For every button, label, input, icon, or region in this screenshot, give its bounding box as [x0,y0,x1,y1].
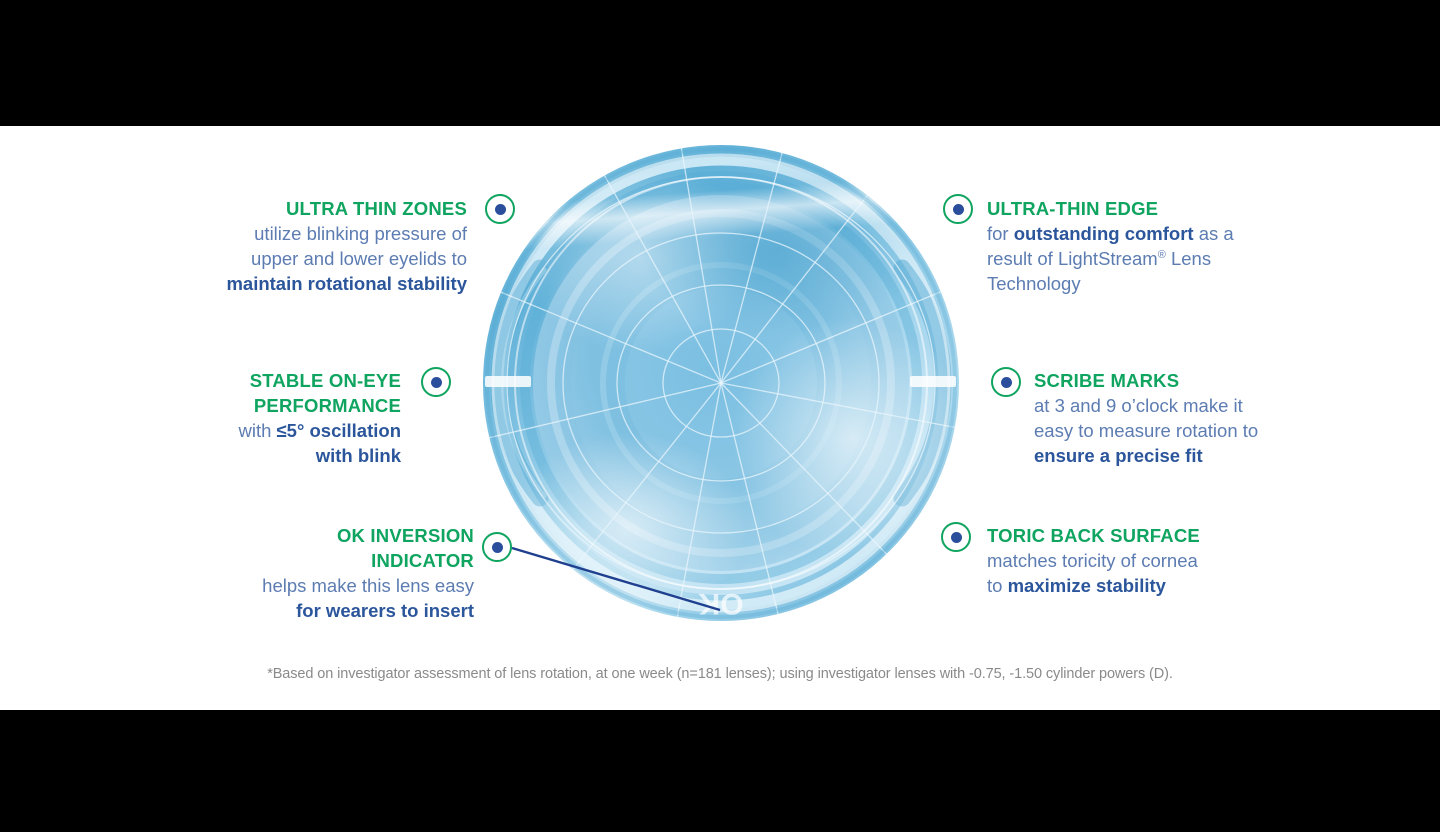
callout-line-1: utilize blinking pressure of [120,221,467,246]
callout-emphasis: for wearers to insert [296,600,474,621]
callout-ultra-thin-zones: ULTRA THIN ZONES utilize blinking pressu… [120,196,467,296]
contact-lens-illustration: OK [480,138,962,628]
bullet-ultra-thin-edge[interactable] [943,194,973,224]
callout-title: ULTRA THIN ZONES [120,196,467,221]
callout-scribe-marks: SCRIBE MARKS at 3 and 9 o’clock make it … [1034,368,1334,468]
scribe-mark-right [910,376,956,387]
registered-mark: ® [1158,249,1166,261]
callout-ultra-thin-edge: ULTRA-THIN EDGE for outstanding comfort … [987,196,1287,296]
footnote-text: *Based on investigator assessment of len… [0,666,1440,682]
bullet-scribe-marks[interactable] [991,367,1021,397]
callout-line-2: upper and lower eyelids to [120,246,467,271]
callout-line-1: matches toricity of cornea [987,548,1287,573]
ok-inversion-mark: OK [698,587,743,620]
bullet-toric-back-surface[interactable] [941,522,971,552]
callout-line-2: easy to measure rotation to [1034,418,1334,443]
callout-line-2a: result of LightStream [987,248,1158,269]
callout-title-line-1: STABLE ON-EYE [100,368,401,393]
callout-line-1: at 3 and 9 o’clock make it [1034,393,1334,418]
callout-mid: as a [1194,223,1234,244]
callout-emphasis-1: ≤5° oscillation [277,420,401,441]
bullet-ok-inversion-indicator[interactable] [482,532,512,562]
callout-emphasis-1: outstanding comfort [1014,223,1194,244]
callout-title: ULTRA-THIN EDGE [987,196,1287,221]
screenshot-root: OK ULTRA THIN ZONES utilize blinking pre… [0,0,1440,832]
callout-emphasis-2: with blink [316,445,401,466]
callout-ok-inversion-indicator: OK INVERSION INDICATOR helps make this l… [140,523,474,623]
callout-emphasis: ensure a precise fit [1034,445,1203,466]
callout-emphasis: maximize stability [1008,575,1166,596]
callout-lead: to [987,575,1008,596]
callout-emphasis: maintain rotational stability [226,273,467,294]
callout-title-line-2: PERFORMANCE [100,393,401,418]
callout-line-2b: Lens [1166,248,1211,269]
callout-toric-back-surface: TORIC BACK SURFACE matches toricity of c… [987,523,1287,598]
bullet-stable-on-eye-performance[interactable] [421,367,451,397]
callout-title-line-2: INDICATOR [140,548,474,573]
callout-title: TORIC BACK SURFACE [987,523,1287,548]
callout-line-3: Technology [987,271,1287,296]
callout-title-line-1: OK INVERSION [140,523,474,548]
callout-lead: for [987,223,1014,244]
callout-line-1: helps make this lens easy [140,573,474,598]
callout-lead: with [238,420,276,441]
content-panel: OK ULTRA THIN ZONES utilize blinking pre… [0,126,1440,710]
bullet-ultra-thin-zones[interactable] [485,194,515,224]
callout-title: SCRIBE MARKS [1034,368,1334,393]
callout-stable-on-eye-performance: STABLE ON-EYE PERFORMANCE with ≤5° oscil… [100,368,401,468]
scribe-mark-left [485,376,531,387]
